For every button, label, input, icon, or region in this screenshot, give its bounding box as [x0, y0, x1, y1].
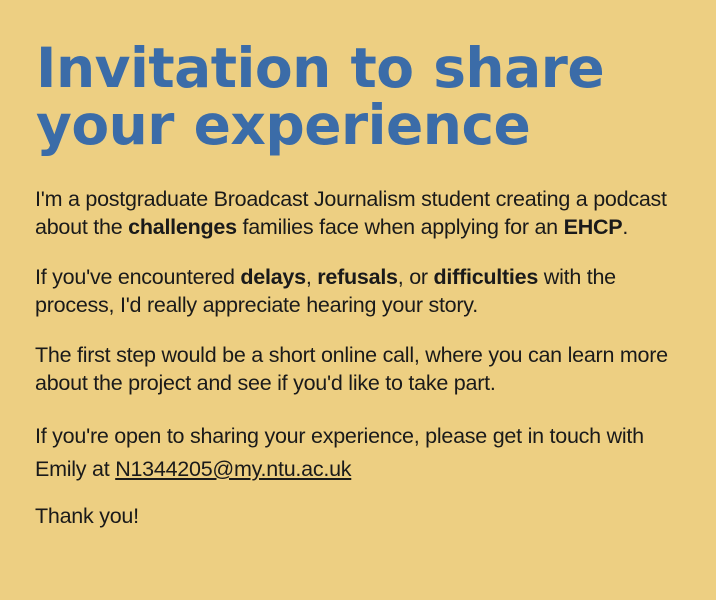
page-title: Invitation to share your experience [36, 40, 656, 153]
page-title-line-2: your experience [36, 97, 656, 154]
experience-text-part-3: , or [398, 265, 434, 289]
thanks-text: Thank you! [35, 504, 139, 528]
contact-email-link[interactable]: N1344205@my.ntu.ac.uk [115, 457, 351, 481]
intro-emphasis-ehcp: EHCP [564, 215, 623, 239]
paragraph-contact: If you're open to sharing your experienc… [35, 420, 675, 485]
experience-emphasis-refusals: refusals [317, 265, 397, 289]
page-title-line-1: Invitation to share [36, 40, 656, 97]
paragraph-first-step: The first step would be a short online c… [35, 342, 675, 397]
intro-text-part-3: . [622, 215, 628, 239]
experience-text-part-2: , [306, 265, 317, 289]
experience-emphasis-difficulties: difficulties [434, 265, 539, 289]
paragraph-intro: I'm a postgraduate Broadcast Journalism … [35, 186, 675, 241]
paragraph-thanks: Thank you! [35, 503, 675, 531]
experience-emphasis-delays: delays [240, 265, 305, 289]
body-copy: I'm a postgraduate Broadcast Journalism … [35, 186, 675, 531]
intro-text-part-2: families face when applying for an [237, 215, 564, 239]
experience-text-part-1: If you've encountered [35, 265, 240, 289]
paragraph-experience: If you've encountered delays, refusals, … [35, 264, 675, 319]
intro-emphasis-challenges: challenges [128, 215, 237, 239]
poster-canvas: Invitation to share your experience I'm … [0, 0, 716, 600]
first-step-text: The first step would be a short online c… [35, 343, 668, 395]
